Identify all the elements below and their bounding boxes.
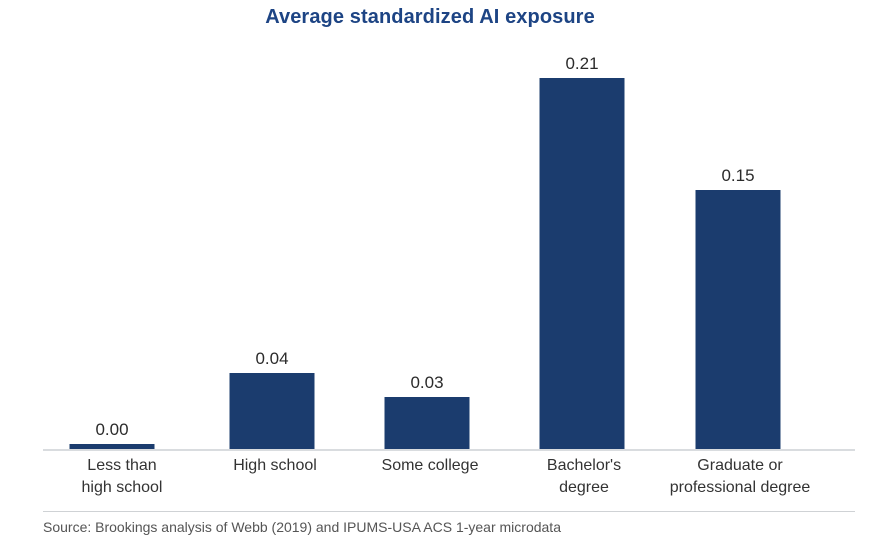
bar-value-bachelors-degree: 0.21 (565, 55, 598, 72)
x-tick-line-1: High school (185, 455, 365, 477)
bar-group-graduate-degree: 0.15 (669, 40, 807, 451)
x-tick-line-1: Bachelor's (494, 455, 674, 477)
bar-value-high-school: 0.04 (255, 350, 288, 367)
bar-value-some-college: 0.03 (410, 374, 443, 391)
x-tick-label-some-college: Some college (340, 455, 520, 477)
bar-group-high-school: 0.04 (203, 40, 341, 451)
x-tick-line-2: professional degree (650, 477, 830, 499)
x-tick-line-1: Some college (340, 455, 520, 477)
bar-value-graduate-degree: 0.15 (721, 167, 754, 184)
bar-high-school[interactable] (230, 373, 315, 451)
x-tick-label-bachelors-degree: Bachelor's degree (494, 455, 674, 498)
footer-divider (43, 511, 855, 512)
x-tick-line-2: high school (32, 477, 212, 499)
x-tick-line-1: Graduate or (650, 455, 830, 477)
x-tick-line-2: degree (494, 477, 674, 499)
bar-group-bachelors-degree: 0.21 (513, 40, 651, 451)
bar-some-college[interactable] (385, 397, 470, 451)
plot-area: 0.00 0.04 0.03 0.21 0.15 (43, 40, 855, 451)
bar-group-some-college: 0.03 (358, 40, 496, 451)
bar-value-less-than-high-school: 0.00 (95, 421, 128, 438)
x-tick-label-high-school: High school (185, 455, 365, 477)
bar-graduate-degree[interactable] (696, 190, 781, 451)
bar-group-less-than-high-school: 0.00 (43, 40, 181, 451)
chart-figure: Average standardized AI exposure 0.00 0.… (0, 0, 887, 547)
chart-title: Average standardized AI exposure (0, 6, 860, 29)
source-note: Source: Brookings analysis of Webb (2019… (43, 519, 561, 535)
x-axis-baseline (43, 449, 855, 451)
bar-bachelors-degree[interactable] (540, 78, 625, 451)
x-tick-label-graduate-degree: Graduate or professional degree (650, 455, 830, 498)
